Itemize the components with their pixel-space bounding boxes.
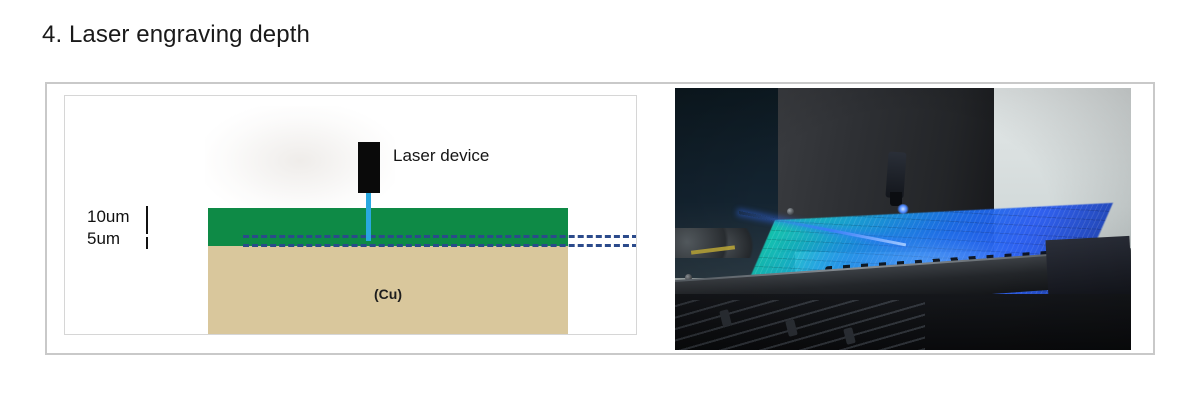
- depth-tick-10um: [146, 206, 148, 234]
- depth-label-5um: 5um: [87, 229, 120, 249]
- photo-laser-beam-spot: [897, 204, 909, 214]
- machine-photo: [675, 88, 1131, 350]
- laser-beam: [366, 193, 371, 241]
- depth-line-10um: [243, 235, 637, 238]
- depth-label-10um: 10um: [87, 207, 130, 227]
- machine-photo-stage: [675, 88, 1131, 350]
- depth-tick-5um: [146, 237, 148, 249]
- copper-substrate-label: (Cu): [208, 286, 568, 302]
- photo-screw: [787, 208, 794, 215]
- copper-substrate-layer: (Cu): [208, 246, 568, 335]
- photo-right-shadow: [1045, 236, 1131, 300]
- photo-wiring-bundle: [675, 300, 925, 350]
- schematic-stage: (Cu) 10um 5um Laser device: [65, 96, 637, 335]
- laser-device-body: [358, 142, 380, 193]
- page-title: 4. Laser engraving depth: [42, 21, 310, 49]
- solder-mask-layer: [208, 208, 568, 246]
- schematic-panel: (Cu) 10um 5um Laser device: [64, 95, 637, 335]
- depth-line-5um: [243, 244, 637, 247]
- laser-device-label: Laser device: [393, 146, 489, 166]
- photo-rollers: [675, 228, 755, 258]
